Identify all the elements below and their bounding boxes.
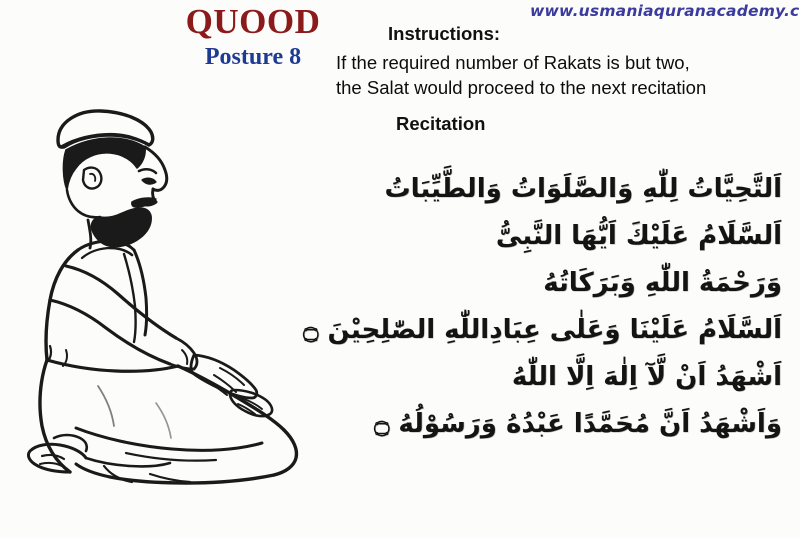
knee-outline xyxy=(274,430,297,475)
site-url-text: www.usmaniaquranacademy.com xyxy=(530,2,798,20)
instructions-body: If the required number of Rakats is but … xyxy=(336,51,788,100)
recitation-heading: Recitation xyxy=(396,113,485,135)
face-profile xyxy=(142,147,167,205)
instructions-line-1: If the required number of Rakats is but … xyxy=(336,51,788,76)
ear-inner-line xyxy=(90,174,95,181)
ear-shape xyxy=(83,168,101,189)
collar-front-line xyxy=(110,248,132,255)
thigh-shade-line-2 xyxy=(156,403,171,438)
thigh-shade-line-1 xyxy=(98,386,114,426)
eye-shape xyxy=(142,178,156,184)
jaw-back-line xyxy=(67,190,100,217)
praying-figure-drawing xyxy=(6,98,351,498)
poster-page: www.usmaniaquranacademy.com QUOOD Postur… xyxy=(0,0,800,538)
shirt-placket-line xyxy=(124,254,136,342)
hair-shape xyxy=(63,138,145,190)
posture-name: QUOOD xyxy=(168,4,338,40)
eyebrow-line xyxy=(139,169,156,173)
garment-fold-line-2 xyxy=(126,453,216,461)
cuff-fold-line xyxy=(182,350,187,364)
collar-inner-line xyxy=(82,248,111,258)
quood-posture-illustration xyxy=(6,98,351,498)
posture-title-block: QUOOD Posture 8 xyxy=(168,4,338,71)
instructions-block: Instructions: If the required number of … xyxy=(336,22,788,100)
instructions-heading: Instructions: xyxy=(388,22,788,45)
moustache-shape xyxy=(132,198,156,207)
instructions-line-2: the Salat would proceed to the next reci… xyxy=(336,76,788,101)
posture-number-label: Posture 8 xyxy=(168,44,338,72)
shin-lower-outline xyxy=(110,475,274,483)
upper-arm-line xyxy=(66,266,176,338)
